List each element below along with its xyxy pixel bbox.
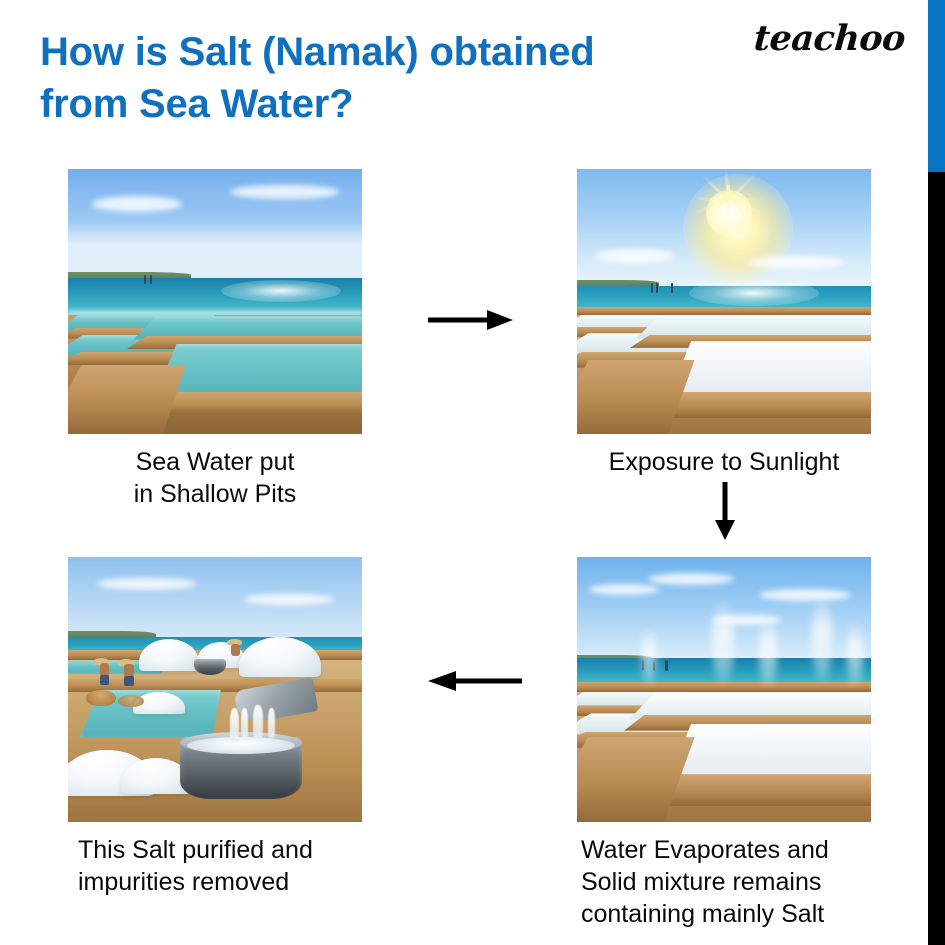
step-card-2: Exposure to Sunlight: [577, 169, 871, 478]
slide-canvas: How is Salt (Namak) obtained from Sea Wa…: [0, 0, 945, 945]
step-card-4: Water Evaporates and Solid mixture remai…: [577, 557, 871, 930]
step-card-3: This Salt purified and impurities remove…: [68, 557, 362, 898]
arrow-step1-to-step2-icon: [425, 300, 515, 340]
arrow-step4-to-step3-icon: [420, 662, 525, 700]
step-2-image: [577, 169, 871, 434]
step-3-image: [68, 557, 362, 822]
step-1-caption: Sea Water put in Shallow Pits: [68, 446, 362, 510]
step-1-image: [68, 169, 362, 434]
arrow-step2-to-step4-icon: [705, 480, 745, 542]
teachoo-logo: teachoo: [753, 18, 907, 59]
step-4-image: [577, 557, 871, 822]
step-card-1: Sea Water put in Shallow Pits: [68, 169, 362, 510]
step-4-caption: Water Evaporates and Solid mixture remai…: [577, 834, 871, 930]
step-3-caption: This Salt purified and impurities remove…: [68, 834, 362, 898]
step-2-caption: Exposure to Sunlight: [577, 446, 871, 478]
right-edge-black-bar: [928, 172, 945, 945]
right-edge-blue-bar: [928, 0, 945, 172]
page-title-line-2: from Sea Water?: [40, 78, 740, 130]
page-title: How is Salt (Namak) obtained from Sea Wa…: [40, 26, 740, 130]
page-title-line-1: How is Salt (Namak) obtained: [40, 26, 740, 78]
